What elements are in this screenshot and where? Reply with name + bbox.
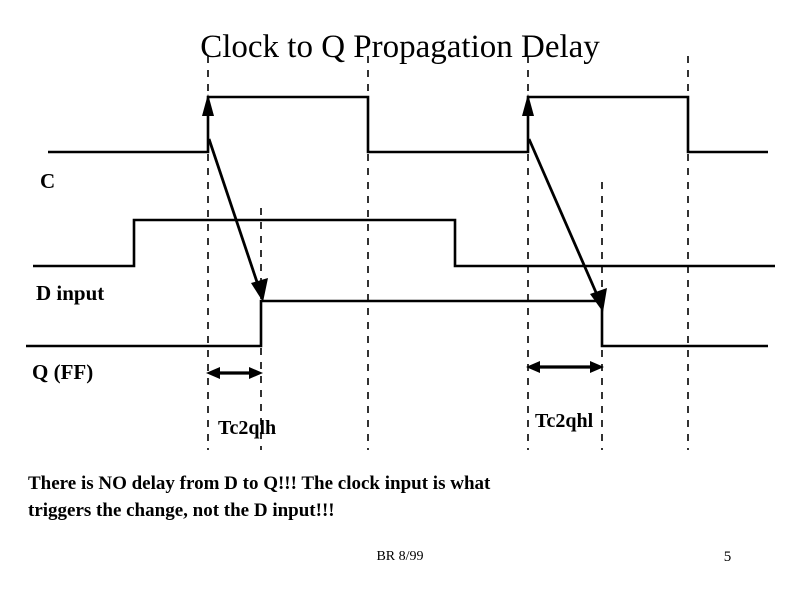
slide-canvas: Clock to Q Propagation Delay	[0, 0, 800, 600]
causal-arrow-clk-to-q-fall	[529, 139, 607, 312]
waveform-d-input	[33, 220, 775, 266]
signal-label-d-input: D input	[36, 283, 104, 304]
footer-author: BR 8/99	[0, 549, 800, 565]
delay-label-tc2qhl: Tc2qhl	[535, 411, 593, 431]
signal-label-clock: C	[40, 171, 55, 192]
note-line-2: triggers the change, not the D input!!!	[28, 497, 728, 524]
waveform-clock	[48, 97, 768, 152]
delay-arrow-tc2qhl	[526, 361, 604, 373]
note-text: There is NO delay from D to Q!!! The clo…	[28, 470, 728, 524]
delay-label-tc2qlh: Tc2qlh	[218, 418, 276, 438]
waveform-q-output	[26, 301, 768, 346]
footer-page-number: 5	[700, 549, 755, 565]
time-marker-lines	[208, 56, 688, 450]
note-line-1: There is NO delay from D to Q!!! The clo…	[28, 470, 728, 497]
delay-arrow-tc2qlh	[206, 367, 263, 379]
signal-label-q-output: Q (FF)	[32, 362, 93, 383]
